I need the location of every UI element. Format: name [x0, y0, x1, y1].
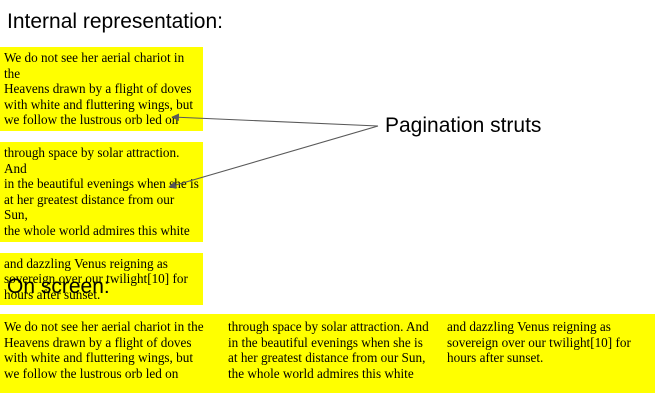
column-line: the whole world admires this white [228, 366, 440, 382]
column-line: we follow the lustrous orb led on [4, 366, 219, 382]
callout-label-pagination-struts: Pagination struts [385, 114, 541, 138]
screen-column-2: through space by solar attraction. And i… [228, 319, 440, 381]
fragment-line: through space by solar attraction. And [4, 145, 199, 176]
fragment-line: We do not see her aerial chariot in the [4, 50, 199, 81]
fragment-line: the whole world admires this white [4, 223, 199, 239]
screen-column-1: We do not see her aerial chariot in the … [4, 319, 219, 381]
column-line: through space by solar attraction. And [228, 319, 440, 335]
column-line: at her greatest distance from our Sun, [228, 350, 440, 366]
column-line: We do not see her aerial chariot in the [4, 319, 219, 335]
column-line: with white and fluttering wings, but [4, 350, 219, 366]
fragment-line: we follow the lustrous orb led on [4, 112, 199, 128]
pagination-strut-2 [0, 242, 203, 253]
fragment-line: and dazzling Venus reigning as [4, 256, 199, 272]
column-line: hours after sunset. [447, 350, 652, 366]
fragment-line: Heavens drawn by a flight of doves [4, 81, 199, 97]
internal-representation-block: We do not see her aerial chariot in the … [0, 47, 203, 305]
on-screen-band: We do not see her aerial chariot in the … [0, 314, 655, 393]
column-line: in the beautiful evenings when she is [228, 335, 440, 351]
heading-internal-representation: Internal representation: [7, 10, 223, 33]
column-line: sovereign over our twilight[10] for [447, 335, 652, 351]
fragment-line: with white and fluttering wings, but [4, 97, 199, 113]
column-line: and dazzling Venus reigning as [447, 319, 652, 335]
fragment-line: at her greatest distance from our Sun, [4, 192, 199, 223]
screen-column-3: and dazzling Venus reigning as sovereign… [447, 319, 652, 366]
text-fragment-1: We do not see her aerial chariot in the … [0, 47, 203, 131]
column-line: Heavens drawn by a flight of doves [4, 335, 219, 351]
slide-canvas: Internal representation: We do not see h… [0, 0, 664, 411]
text-fragment-2: through space by solar attraction. And i… [0, 142, 203, 242]
fragment-line: in the beautiful evenings when she is [4, 176, 199, 192]
heading-on-screen: On screen: [7, 275, 110, 298]
pagination-strut-1 [0, 131, 203, 142]
